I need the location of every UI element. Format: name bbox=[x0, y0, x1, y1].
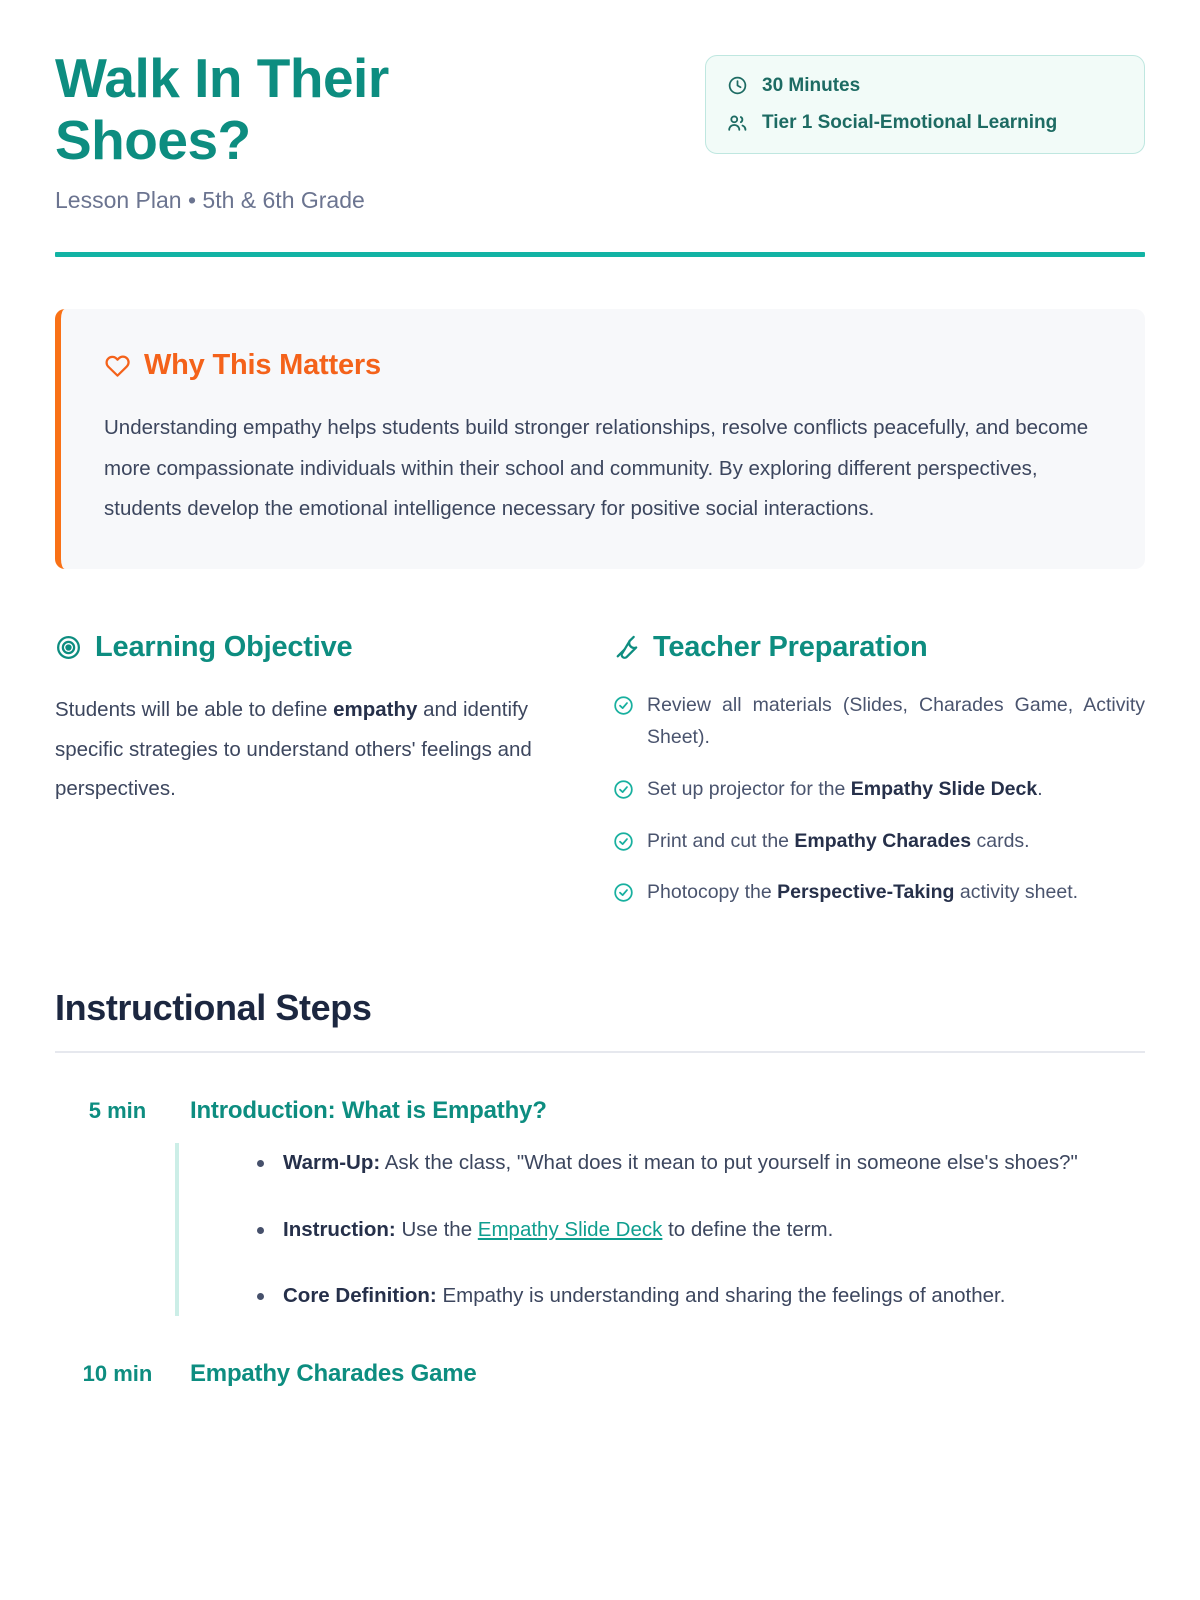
step-title: Empathy Charades Game bbox=[190, 1360, 477, 1388]
learning-objective-title: Learning Objective bbox=[95, 631, 352, 664]
prep-item-text: Print and cut the Empathy Charades cards… bbox=[647, 826, 1145, 858]
step-time-badge: 10 min bbox=[55, 1361, 180, 1387]
prep-list-item: Set up projector for the Empathy Slide D… bbox=[613, 774, 1145, 806]
step-body: Warm-Up: Ask the class, "What does it me… bbox=[175, 1143, 1145, 1316]
document-header: Walk In Their Shoes? Lesson Plan • 5th &… bbox=[55, 44, 1145, 214]
meta-row-duration: 30 Minutes bbox=[726, 73, 1124, 98]
prep-text-after: activity sheet. bbox=[954, 881, 1078, 903]
wrench-icon bbox=[613, 634, 640, 661]
check-circle-icon bbox=[613, 831, 634, 852]
objective-text-before: Students will be able to define bbox=[55, 698, 333, 721]
users-icon bbox=[726, 112, 748, 134]
lesson-meta-box: 30 Minutes Tier 1 Social-Emotional Learn… bbox=[705, 55, 1145, 154]
objective-prep-columns: Learning Objective Students will be able… bbox=[55, 631, 1145, 929]
page-subtitle: Lesson Plan • 5th & 6th Grade bbox=[55, 187, 655, 214]
check-circle-icon bbox=[613, 882, 634, 903]
teacher-preparation-header: Teacher Preparation bbox=[613, 631, 1145, 664]
teacher-preparation-list: Review all materials (Slides, Charades G… bbox=[613, 690, 1145, 909]
meta-tier-label: Tier 1 Social-Emotional Learning bbox=[762, 110, 1057, 135]
step-bullet-list: Warm-Up: Ask the class, "What does it me… bbox=[179, 1143, 1145, 1316]
step-introduction: 5 min Introduction: What is Empathy? War… bbox=[55, 1097, 1145, 1316]
meta-duration-label: 30 Minutes bbox=[762, 73, 860, 98]
prep-text-bold: Perspective-Taking bbox=[777, 881, 954, 903]
prep-text-before: Review all materials (Slides, Charades G… bbox=[647, 694, 1145, 748]
step-bullet: Warm-Up: Ask the class, "What does it me… bbox=[283, 1143, 1145, 1183]
learning-objective-text: Students will be able to define empathy … bbox=[55, 690, 555, 809]
instructional-steps-title: Instructional Steps bbox=[55, 987, 1145, 1029]
prep-list-item: Print and cut the Empathy Charades cards… bbox=[613, 826, 1145, 858]
callout-title: Why This Matters bbox=[144, 349, 381, 382]
prep-list-item: Photocopy the Perspective-Taking activit… bbox=[613, 877, 1145, 909]
step-bullet: Core Definition: Empathy is understandin… bbox=[283, 1276, 1145, 1316]
bullet-text: Ask the class, "What does it mean to put… bbox=[380, 1151, 1078, 1174]
meta-row-tier: Tier 1 Social-Emotional Learning bbox=[726, 110, 1124, 135]
steps-divider bbox=[55, 1051, 1145, 1053]
header-divider bbox=[55, 252, 1145, 257]
bullet-text: Use the bbox=[396, 1218, 478, 1241]
instructional-steps-section: Instructional Steps 5 min Introduction: … bbox=[55, 987, 1145, 1388]
teacher-preparation-section: Teacher Preparation Review all materials… bbox=[613, 631, 1145, 929]
empathy-slide-deck-link[interactable]: Empathy Slide Deck bbox=[478, 1218, 663, 1241]
step-header: 10 min Empathy Charades Game bbox=[55, 1360, 1145, 1388]
prep-text-bold: Empathy Slide Deck bbox=[851, 778, 1037, 800]
callout-body: Understanding empathy helps students bui… bbox=[104, 408, 1103, 529]
bullet-label: Instruction: bbox=[283, 1218, 396, 1241]
prep-item-text: Review all materials (Slides, Charades G… bbox=[647, 690, 1145, 754]
bullet-label: Warm-Up: bbox=[283, 1151, 380, 1174]
prep-text-after: . bbox=[1037, 778, 1042, 800]
bullet-text: Empathy is understanding and sharing the… bbox=[437, 1284, 1006, 1307]
step-header: 5 min Introduction: What is Empathy? bbox=[55, 1097, 1145, 1125]
prep-list-item: Review all materials (Slides, Charades G… bbox=[613, 690, 1145, 754]
clock-icon bbox=[726, 75, 748, 97]
heart-icon bbox=[104, 352, 131, 379]
prep-text-after: cards. bbox=[971, 830, 1030, 852]
check-circle-icon bbox=[613, 695, 634, 716]
prep-item-text: Photocopy the Perspective-Taking activit… bbox=[647, 877, 1145, 909]
check-circle-icon bbox=[613, 779, 634, 800]
step-title: Introduction: What is Empathy? bbox=[190, 1097, 547, 1125]
page-title: Walk In Their Shoes? bbox=[55, 48, 485, 171]
header-text-block: Walk In Their Shoes? Lesson Plan • 5th &… bbox=[55, 44, 655, 214]
prep-text-before: Set up projector for the bbox=[647, 778, 851, 800]
bullet-label: Core Definition: bbox=[283, 1284, 437, 1307]
prep-item-text: Set up projector for the Empathy Slide D… bbox=[647, 774, 1145, 806]
objective-keyword: empathy bbox=[333, 698, 417, 721]
prep-text-before: Photocopy the bbox=[647, 881, 777, 903]
learning-objective-header: Learning Objective bbox=[55, 631, 555, 664]
prep-text-bold: Empathy Charades bbox=[794, 830, 971, 852]
learning-objective-section: Learning Objective Students will be able… bbox=[55, 631, 555, 929]
callout-header: Why This Matters bbox=[104, 349, 1103, 382]
target-icon bbox=[55, 634, 82, 661]
bullet-text-after-link: to define the term. bbox=[662, 1218, 833, 1241]
step-charades-game: 10 min Empathy Charades Game bbox=[55, 1360, 1145, 1388]
step-time-badge: 5 min bbox=[55, 1098, 180, 1124]
teacher-preparation-title: Teacher Preparation bbox=[653, 631, 928, 664]
lesson-plan-page: Walk In Their Shoes? Lesson Plan • 5th &… bbox=[0, 0, 1200, 1600]
prep-text-before: Print and cut the bbox=[647, 830, 794, 852]
why-this-matters-callout: Why This Matters Understanding empathy h… bbox=[55, 309, 1145, 569]
step-bullet: Instruction: Use the Empathy Slide Deck … bbox=[283, 1210, 1145, 1250]
